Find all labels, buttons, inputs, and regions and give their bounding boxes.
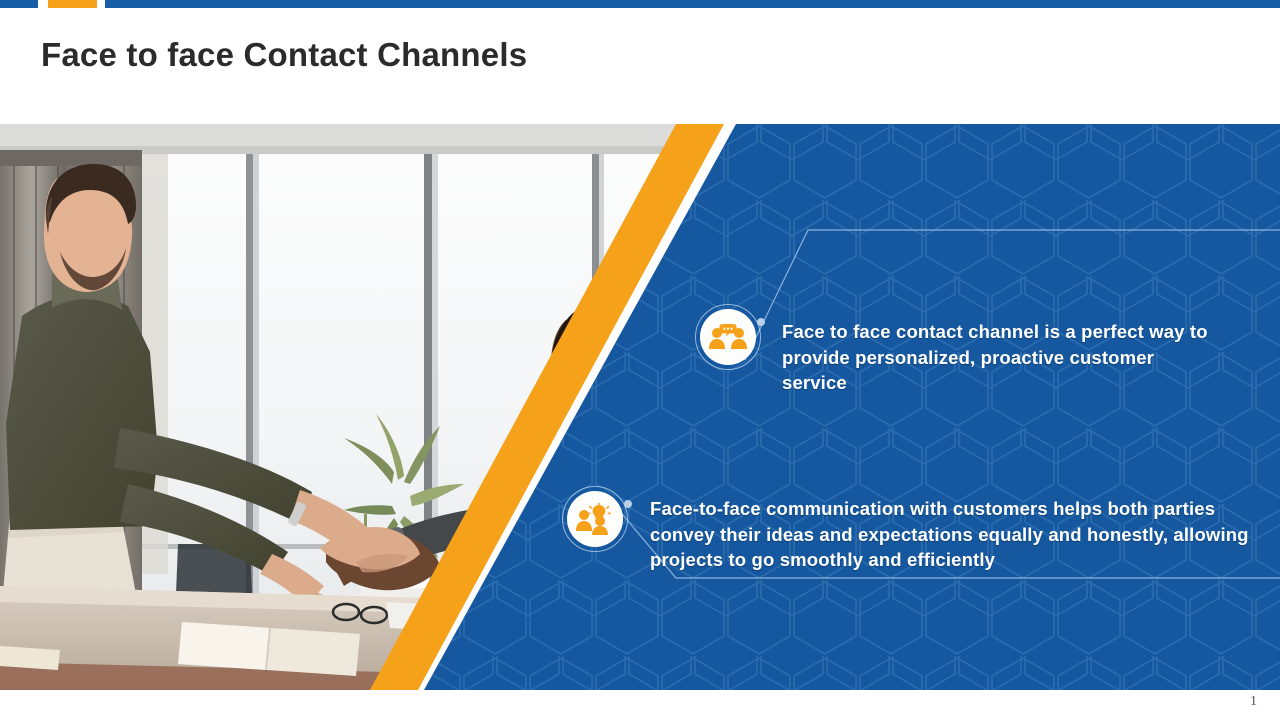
bullet-item-1: Face to face contact channel is a perfec… xyxy=(695,304,1255,396)
bullet-2-badge-disc xyxy=(567,491,623,547)
bullet-item-2: Face-to-face communication with customer… xyxy=(562,486,1262,573)
slide-footer xyxy=(0,690,1280,720)
bullet-2-text: Face-to-face communication with customer… xyxy=(650,496,1250,573)
page-number: 1 xyxy=(1250,694,1257,710)
bullet-1-badge xyxy=(695,304,761,370)
topbar-segment-blue-right xyxy=(105,0,1280,8)
two-people-chat-icon xyxy=(708,322,748,352)
page-title: Face to face Contact Channels xyxy=(41,33,527,77)
topbar-segment-blue-left xyxy=(0,0,38,8)
bullet-1-badge-disc xyxy=(700,309,756,365)
top-accent-bar xyxy=(0,0,1280,8)
two-people-idea-icon xyxy=(576,503,614,535)
bullet-2-orbit-dot xyxy=(624,500,632,508)
bullet-1-text: Face to face contact channel is a perfec… xyxy=(782,319,1212,396)
content-band: Face to face contact channel is a perfec… xyxy=(0,124,1280,690)
bullet-2-badge xyxy=(562,486,628,552)
topbar-segment-orange xyxy=(48,0,97,8)
bullet-1-orbit-dot xyxy=(757,318,765,326)
slide-root: Face to face Contact Channels xyxy=(0,0,1280,720)
